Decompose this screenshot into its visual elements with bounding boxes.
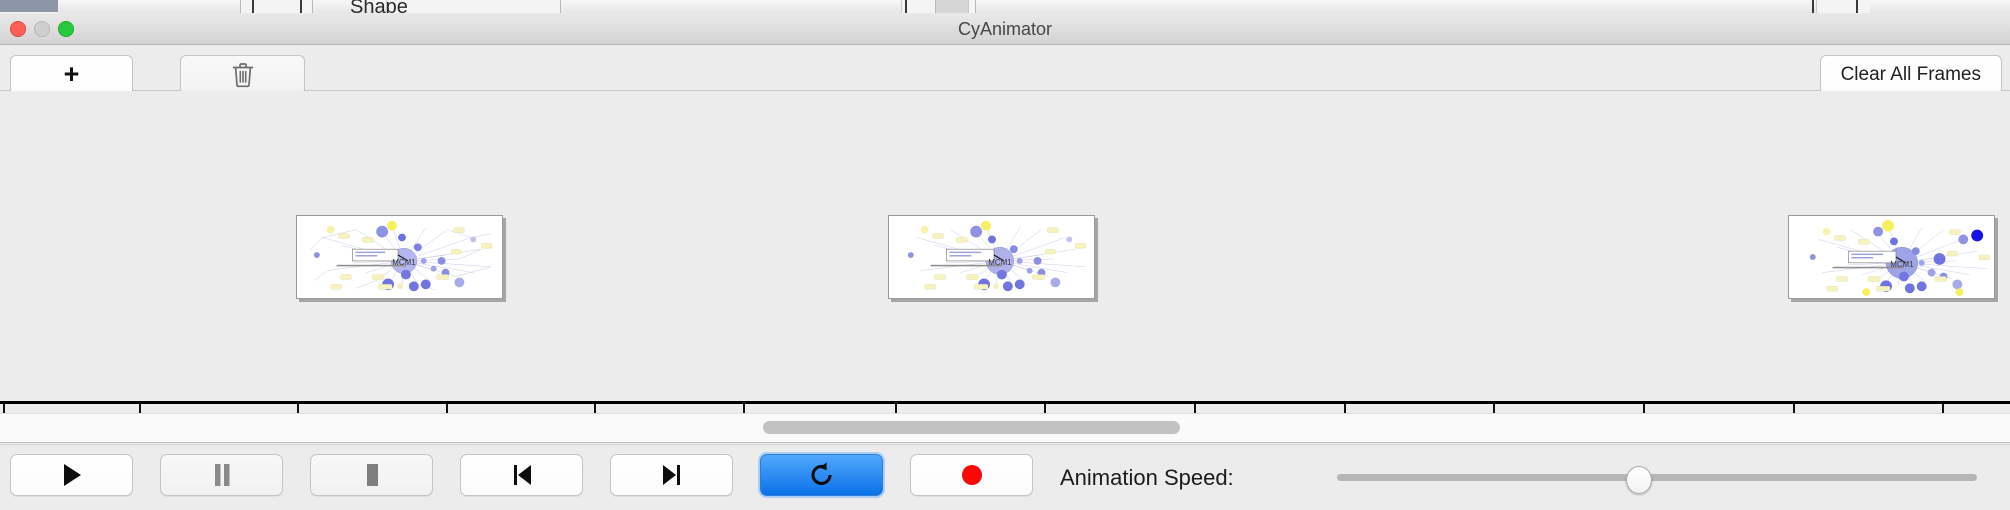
hub-node-label: MCM1	[988, 258, 1011, 267]
slider-thumb[interactable]	[1626, 466, 1652, 494]
background-window-strip: Shape	[0, 0, 2010, 13]
cyanimator-window: Shape CyAnimator + Clear A	[0, 0, 2010, 510]
hub-node-label: MCM1	[1890, 260, 1913, 269]
hub-node-label: MCM1	[392, 258, 415, 267]
pause-button[interactable]	[160, 454, 283, 496]
network-thumbnail: MCM1	[297, 216, 502, 298]
loop-button[interactable]	[760, 454, 883, 496]
toolbar: + Clear All Frames	[0, 45, 2010, 91]
timeline-frame[interactable]: MCM1	[1788, 215, 1995, 299]
stop-icon	[361, 463, 383, 487]
network-thumbnail: MCM1	[1789, 216, 1994, 298]
loop-icon	[809, 462, 835, 488]
network-thumbnail: MCM1	[889, 216, 1094, 298]
axis-tick-minor	[446, 404, 448, 413]
axis-tick-minor	[1643, 404, 1645, 413]
axis-tick-minor	[743, 404, 745, 413]
window-title: CyAnimator	[0, 13, 2010, 45]
timeline-frame[interactable]: MCM1	[296, 215, 503, 299]
background-window-selected-tab	[0, 0, 58, 12]
delete-frame-button[interactable]	[180, 55, 305, 95]
skip-start-button[interactable]	[460, 454, 583, 496]
axis-tick-major	[1493, 404, 1495, 413]
clear-all-frames-label: Clear All Frames	[1841, 64, 1981, 86]
plus-icon: +	[64, 61, 80, 88]
scrollbar-thumb[interactable]	[763, 421, 1180, 434]
pause-icon	[211, 463, 233, 487]
timeline-panel[interactable]: MCM1	[0, 91, 2010, 413]
clear-all-frames-button[interactable]: Clear All Frames	[1820, 55, 2002, 95]
timeline-axis-line	[0, 401, 2010, 404]
axis-tick-major	[1793, 404, 1795, 413]
animation-speed-label: Animation Speed:	[1060, 445, 1234, 510]
axis-tick-minor	[139, 404, 141, 413]
record-icon	[960, 463, 984, 487]
axis-tick-major	[3, 404, 5, 413]
slider-track[interactable]	[1337, 474, 1977, 481]
play-button[interactable]	[10, 454, 133, 496]
timeline-frame[interactable]: MCM1	[888, 215, 1095, 299]
axis-tick-major	[895, 404, 897, 413]
axis-tick-minor	[1044, 404, 1046, 413]
axis-tick-minor	[1942, 404, 1944, 413]
timeline-scrollbar[interactable]	[0, 413, 2010, 443]
playback-controls: Animation Speed:	[0, 444, 2010, 510]
stop-button[interactable]	[310, 454, 433, 496]
add-frame-button[interactable]: +	[10, 55, 133, 95]
axis-tick-major	[297, 404, 299, 413]
axis-tick-major	[1194, 404, 1196, 413]
trash-icon	[231, 62, 255, 88]
skip-end-button[interactable]	[610, 454, 733, 496]
skip-back-icon	[510, 463, 534, 487]
play-icon	[61, 463, 83, 487]
background-window-label: Shape	[350, 0, 408, 13]
titlebar: CyAnimator	[0, 13, 2010, 45]
skip-forward-icon	[660, 463, 684, 487]
animation-speed-slider[interactable]	[1337, 445, 1977, 510]
axis-tick-major	[594, 404, 596, 413]
record-button[interactable]	[910, 454, 1033, 496]
axis-tick-minor	[1344, 404, 1346, 413]
